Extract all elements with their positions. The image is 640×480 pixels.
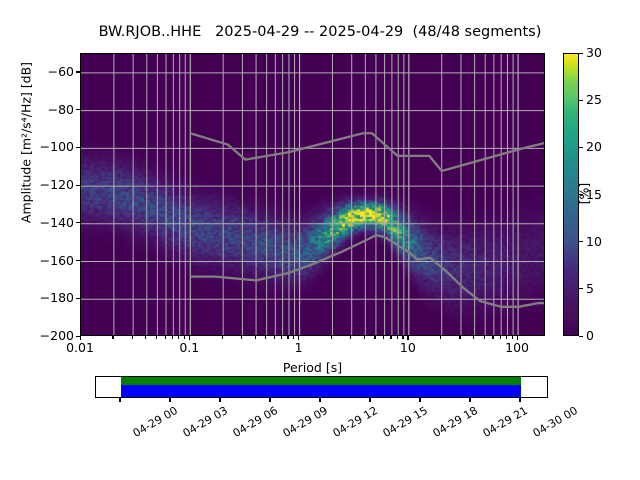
- noise-model-nhnm: [190, 133, 545, 171]
- colorbar-tick: [579, 100, 583, 101]
- axis-tick: [397, 336, 398, 339]
- axis-tick: [178, 336, 179, 339]
- coverage-tick: [419, 398, 420, 402]
- y-tick-label: −120: [40, 177, 74, 192]
- axis-tick: [76, 185, 80, 186]
- axis-tick: [172, 336, 173, 339]
- y-tick-label: −160: [40, 253, 74, 268]
- colorbar-tick-label: 30: [586, 45, 602, 60]
- axis-tick: [517, 336, 518, 340]
- colorbar-tick-label: 10: [586, 234, 602, 249]
- colorbar-tick: [579, 194, 583, 195]
- coverage-tick-label: 04-29 12: [331, 404, 380, 440]
- axis-tick: [76, 147, 80, 148]
- axis-tick: [383, 336, 384, 339]
- coverage-tick: [119, 398, 120, 402]
- axis-tick: [473, 336, 474, 339]
- coverage-tick: [169, 398, 170, 402]
- axis-tick: [506, 336, 507, 339]
- axis-tick: [407, 336, 408, 340]
- axis-tick: [184, 336, 185, 339]
- coverage-axes[interactable]: [95, 376, 548, 398]
- axis-tick: [500, 336, 501, 339]
- axis-tick: [80, 336, 81, 340]
- y-tick-label: −140: [40, 215, 74, 230]
- colorbar-tick: [579, 53, 583, 54]
- axis-tick: [76, 71, 80, 72]
- colorbar-tick-label: 5: [586, 281, 594, 296]
- axis-tick: [76, 109, 80, 110]
- colorbar-tick-label: 25: [586, 92, 602, 107]
- page-title: BW.RJOB..HHE 2025-04-29 -- 2025-04-29 (4…: [0, 24, 640, 40]
- axis-tick: [274, 336, 275, 339]
- axis-tick: [390, 336, 391, 339]
- axis-tick: [222, 336, 223, 339]
- x-tick-label: 100: [477, 340, 557, 355]
- colorbar-tick-label: 15: [586, 187, 602, 202]
- x-tick-label: 0.1: [149, 340, 229, 355]
- x-axis-label: Period [s]: [80, 360, 545, 375]
- coverage-data-bar: [121, 377, 521, 385]
- x-tick-label: 0.01: [40, 340, 120, 355]
- axis-tick: [350, 336, 351, 339]
- coverage-tick-label: 04-29 21: [481, 404, 530, 440]
- axis-tick: [145, 336, 146, 339]
- axis-tick: [76, 260, 80, 261]
- colorbar-tick: [579, 336, 583, 337]
- axis-tick: [293, 336, 294, 339]
- x-tick-label: 10: [368, 340, 448, 355]
- axis-tick: [132, 336, 133, 339]
- coverage-tick-label: 04-29 03: [181, 404, 230, 440]
- axis-tick: [402, 336, 403, 339]
- coverage-tick-label: 04-29 00: [131, 404, 180, 440]
- colorbar-tick: [579, 147, 583, 148]
- coverage-tick: [369, 398, 370, 402]
- axis-tick: [112, 336, 113, 339]
- y-tick-label: −100: [40, 139, 74, 154]
- coverage-tick-label: 04-29 15: [381, 404, 430, 440]
- axis-tick: [241, 336, 242, 339]
- coverage-tick: [219, 398, 220, 402]
- axis-tick: [459, 336, 460, 339]
- coverage-tick-label: 04-30 00: [531, 404, 580, 440]
- coverage-tick: [269, 398, 270, 402]
- coverage-tick-label: 04-29 06: [231, 404, 280, 440]
- axis-tick: [76, 222, 80, 223]
- axis-tick: [281, 336, 282, 339]
- axis-tick: [287, 336, 288, 339]
- ppsd-plot-area[interactable]: [80, 53, 545, 336]
- ppsd-figure: BW.RJOB..HHE 2025-04-29 -- 2025-04-29 (4…: [0, 0, 640, 480]
- x-tick-label: 1: [259, 340, 339, 355]
- y-tick-label: −60: [48, 64, 74, 79]
- axis-tick: [331, 336, 332, 339]
- axis-tick: [512, 336, 513, 339]
- colorbar-tick-label: 20: [586, 139, 602, 154]
- axis-tick: [484, 336, 485, 339]
- y-tick-label: −80: [48, 102, 74, 117]
- y-tick-label: −180: [40, 290, 74, 305]
- coverage-tick-label: 04-29 09: [281, 404, 330, 440]
- axis-tick: [440, 336, 441, 339]
- axis-tick: [156, 336, 157, 339]
- colorbar-tick-label: 0: [586, 328, 594, 343]
- coverage-tick: [319, 398, 320, 402]
- y-axis-label: Amplitude [m²/s⁴/Hz] [dB]: [19, 23, 34, 263]
- coverage-span-bar: [121, 385, 521, 397]
- coverage-tick: [519, 398, 520, 402]
- plot-overlay: [81, 54, 545, 336]
- axis-tick: [189, 336, 190, 340]
- axis-tick: [374, 336, 375, 339]
- noise-model-nlnm: [190, 235, 545, 307]
- coverage-tick-label: 04-29 18: [431, 404, 480, 440]
- axis-tick: [364, 336, 365, 339]
- axis-tick: [76, 298, 80, 299]
- axis-tick: [165, 336, 166, 339]
- colorbar-tick: [579, 288, 583, 289]
- axis-tick: [265, 336, 266, 339]
- axis-tick: [255, 336, 256, 339]
- axis-tick: [492, 336, 493, 339]
- coverage-tick: [469, 398, 470, 402]
- colorbar-tick: [579, 241, 583, 242]
- axis-tick: [298, 336, 299, 340]
